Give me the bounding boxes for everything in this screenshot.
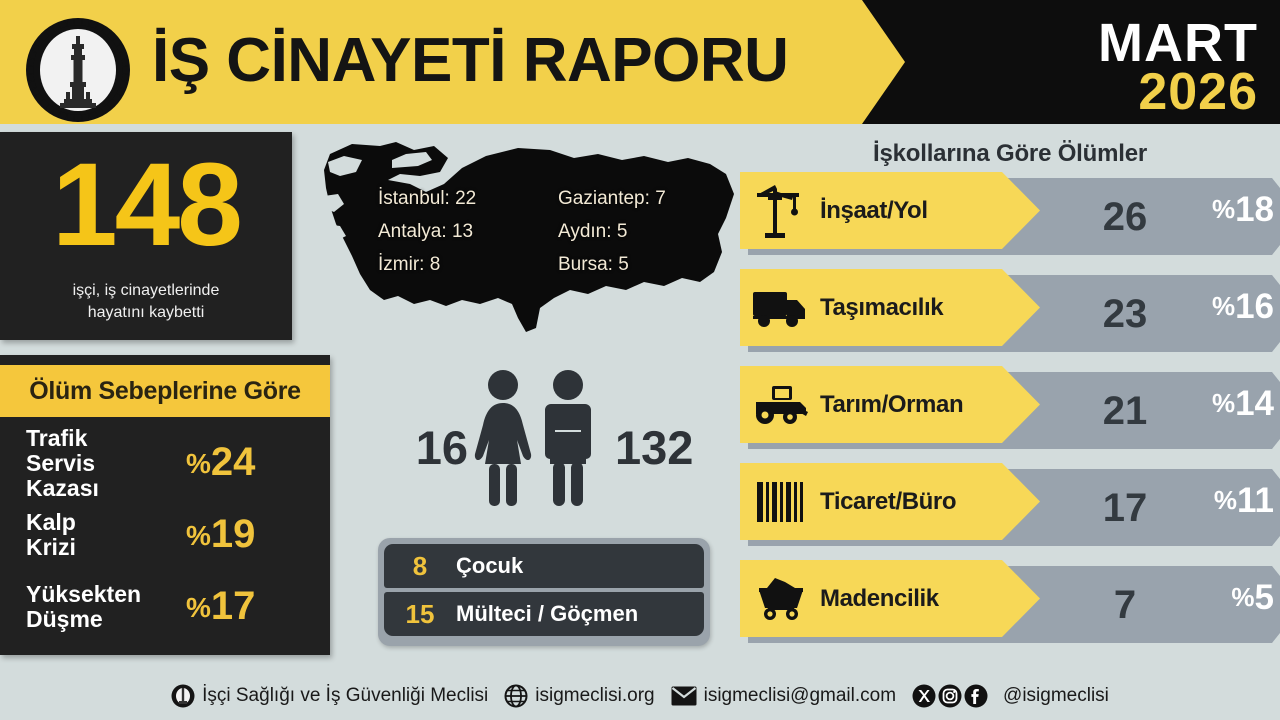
extra-stat-number: 15 — [384, 601, 456, 627]
footer-social: @isigmeclisi — [912, 684, 1109, 708]
sector-row-yellow-arrow: Madencilik — [740, 560, 1040, 637]
page-title: İŞ CİNAYETİ RAPORU — [152, 22, 788, 100]
sector-percent-value: 18 — [1235, 192, 1274, 227]
report-year: 2026 — [1138, 66, 1258, 118]
page-footer: İşçi Sağlığı ve İş Güvenliği Meclisi isi… — [0, 672, 1280, 720]
percent-sign: % — [1212, 386, 1235, 421]
city-line: Bursa: 5 — [558, 248, 708, 281]
death-causes-title: Ölüm Sebeplerine Göre — [29, 377, 301, 406]
sector-row-yellow-arrow: Tarım/Orman — [740, 366, 1040, 443]
total-deaths-panel: 148 işçi, iş cinayetlerinde hayatını kay… — [0, 132, 292, 340]
sector-label: İnşaat/Yol — [820, 197, 928, 225]
death-causes-panel: Ölüm Sebeplerine Göre Trafik Servis Kaza… — [0, 355, 330, 655]
extra-stat-row: 8 Çocuk — [384, 544, 704, 588]
cause-label: Yüksekten Düşme — [26, 582, 186, 632]
city-count: 22 — [455, 188, 476, 209]
extra-stats-panel: 8 Çocuk 15 Mülteci / Göçmen — [378, 538, 710, 646]
percent-sign: % — [1231, 580, 1254, 615]
sector-label: Madencilik — [820, 585, 939, 613]
city-name: Bursa — [558, 254, 608, 275]
city-count: 13 — [452, 221, 473, 242]
barcode-icon — [740, 463, 820, 540]
female-figure-icon — [472, 368, 534, 508]
city-count: 7 — [655, 188, 666, 209]
cause-percent: %24 — [186, 442, 255, 484]
cause-percent-value: 17 — [211, 584, 256, 628]
sector-row-yellow-arrow: Taşımacılık — [740, 269, 1040, 346]
cause-percent-value: 19 — [211, 512, 256, 556]
cause-percent: %19 — [186, 514, 255, 556]
mine-cart-icon — [740, 560, 820, 637]
sector-percent-value: 14 — [1235, 386, 1274, 421]
city-line: Antalya: 13 — [378, 215, 528, 248]
sector-label: Taşımacılık — [820, 294, 943, 322]
footer-website-link[interactable]: isigmeclisi.org — [504, 684, 654, 708]
sector-row-yellow-arrow: İnşaat/Yol — [740, 172, 1040, 249]
page-header: İŞ CİNAYETİ RAPORU MART 2026 — [0, 0, 1280, 124]
footer-org: İşçi Sağlığı ve İş Güvenliği Meclisi — [171, 684, 488, 708]
death-causes-list: Trafik Servis Kazası %24 Kalp Krizi %19 … — [0, 427, 330, 643]
sector-count: 7 — [1070, 566, 1180, 643]
sector-percent-value: 11 — [1237, 483, 1274, 518]
cause-label-line: Servis — [26, 451, 186, 476]
cause-label-line: Düşme — [26, 607, 186, 632]
sector-percent-value: 5 — [1255, 580, 1274, 615]
death-causes-header: Ölüm Sebeplerine Göre — [0, 365, 330, 417]
sector-count: 23 — [1070, 275, 1180, 352]
extra-stat-number: 8 — [384, 553, 456, 579]
footer-org-name: İşçi Sağlığı ve İş Güvenliği Meclisi — [202, 685, 488, 707]
extra-stat-label: Mülteci / Göçmen — [456, 602, 638, 626]
percent-sign: % — [186, 520, 211, 551]
total-deaths-caption: işçi, iş cinayetlerinde hayatını kaybett… — [0, 280, 292, 324]
x-twitter-icon[interactable] — [912, 684, 936, 708]
cause-label: Trafik Servis Kazası — [26, 426, 186, 501]
extra-stat-row: 15 Mülteci / Göçmen — [384, 592, 704, 636]
sector-percent: %14 — [1188, 368, 1274, 438]
sector-percent: %11 — [1188, 465, 1274, 535]
city-count: 5 — [617, 221, 628, 242]
gender-breakdown-section: 16 132 — [372, 368, 712, 518]
cause-row: Kalp Krizi %19 — [0, 499, 330, 571]
female-death-count: 16 — [390, 424, 468, 471]
footer-email-text: isigmeclisi@gmail.com — [704, 685, 896, 707]
sector-percent: %5 — [1188, 562, 1274, 632]
city-name: İzmir — [378, 254, 419, 275]
gear-clocktower-logo — [22, 14, 134, 124]
sector-row-yellow-arrow: Ticaret/Büro — [740, 463, 1040, 540]
envelope-icon — [671, 686, 697, 706]
city-column-right: Gaziantep: 7 Aydın: 5 Bursa: 5 — [558, 182, 708, 281]
city-line: İzmir: 8 — [378, 248, 528, 281]
cause-percent-value: 24 — [211, 440, 256, 484]
sector-label: Ticaret/Büro — [820, 488, 956, 516]
cause-label-line: Yüksekten — [26, 582, 186, 607]
percent-sign: % — [1212, 289, 1235, 324]
sector-count: 17 — [1070, 469, 1180, 546]
city-name: Gaziantep — [558, 188, 645, 209]
city-line: Gaziantep: 7 — [558, 182, 708, 215]
footer-email-link[interactable]: isigmeclisi@gmail.com — [671, 685, 896, 707]
city-name: Antalya — [378, 221, 441, 242]
city-line: Aydın: 5 — [558, 215, 708, 248]
cause-percent: %17 — [186, 586, 255, 628]
cause-row: Yüksekten Düşme %17 — [0, 571, 330, 643]
cause-label-line: Trafik — [26, 426, 186, 451]
footer-social-handle: @isigmeclisi — [1003, 685, 1109, 707]
globe-icon — [504, 684, 528, 708]
percent-sign: % — [186, 592, 211, 623]
sector-count: 21 — [1070, 372, 1180, 449]
cause-label: Kalp Krizi — [26, 510, 186, 560]
percent-sign: % — [1214, 483, 1237, 518]
sector-label: Tarım/Orman — [820, 391, 963, 419]
percent-sign: % — [186, 448, 211, 479]
total-caption-line2: hayatını kaybetti — [0, 302, 292, 324]
cause-label-line: Kalp — [26, 510, 186, 535]
cause-label-line: Krizi — [26, 535, 186, 560]
city-death-columns: İstanbul: 22 Antalya: 13 İzmir: 8 Gazian… — [378, 182, 728, 281]
sector-row: Ticaret/Büro 17 %11 — [740, 463, 1280, 546]
turkey-map-section: İstanbul: 22 Antalya: 13 İzmir: 8 Gazian… — [322, 132, 742, 360]
instagram-icon[interactable] — [938, 684, 962, 708]
crane-icon — [740, 172, 820, 249]
sector-percent-value: 16 — [1235, 289, 1274, 324]
report-month: MART — [1098, 16, 1258, 70]
total-caption-line1: işçi, iş cinayetlerinde — [0, 280, 292, 302]
tractor-icon — [740, 366, 820, 443]
total-deaths-number: 148 — [0, 146, 292, 264]
sectors-section-title: İşkollarına Göre Ölümler — [740, 140, 1280, 168]
facebook-icon[interactable] — [964, 684, 988, 708]
sector-row: Taşımacılık 23 %16 — [740, 269, 1280, 352]
gear-clocktower-logo — [171, 684, 195, 708]
city-count: 8 — [430, 254, 441, 275]
city-line: İstanbul: 22 — [378, 182, 528, 215]
extra-stat-label: Çocuk — [456, 554, 523, 578]
truck-icon — [740, 269, 820, 346]
percent-sign: % — [1212, 192, 1235, 227]
sector-percent: %16 — [1188, 271, 1274, 341]
male-death-count: 132 — [615, 424, 715, 471]
cause-label-line: Kazası — [26, 476, 186, 501]
city-name: İstanbul — [378, 188, 445, 209]
sector-row: Tarım/Orman 21 %14 — [740, 366, 1280, 449]
city-column-left: İstanbul: 22 Antalya: 13 İzmir: 8 — [378, 182, 528, 281]
sector-percent: %18 — [1188, 174, 1274, 244]
cause-row: Trafik Servis Kazası %24 — [0, 427, 330, 499]
footer-website-text: isigmeclisi.org — [535, 685, 654, 707]
sector-row: İnşaat/Yol 26 %18 — [740, 172, 1280, 255]
sectors-list: İnşaat/Yol 26 %18 Taşımacılık 23 — [740, 172, 1280, 657]
city-count: 5 — [618, 254, 629, 275]
male-figure-icon — [537, 368, 599, 508]
sector-row: Madencilik 7 %5 — [740, 560, 1280, 643]
city-name: Aydın — [558, 221, 606, 242]
sector-count: 26 — [1070, 178, 1180, 255]
